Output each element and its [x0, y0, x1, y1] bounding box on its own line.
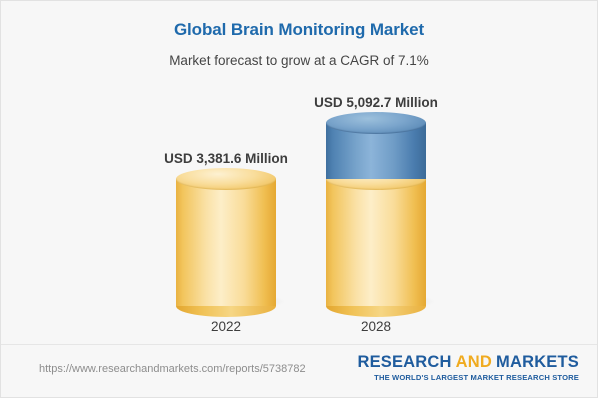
bar-2028[interactable]	[326, 123, 426, 306]
footer: https://www.researchandmarkets.com/repor…	[1, 344, 597, 397]
logo-word-markets: MARKETS	[496, 353, 579, 371]
cylinder-top-ellipse	[326, 112, 426, 134]
bar-2022-base-segment	[176, 179, 276, 306]
chart-subtitle: Market forecast to grow at a CAGR of 7.1…	[1, 53, 597, 68]
cylinder-body	[176, 179, 276, 306]
category-label-2022: 2022	[176, 319, 276, 334]
value-label-2022: USD 3,381.6 Million	[136, 151, 316, 166]
logo-word-and: AND	[456, 353, 492, 371]
report-url-link[interactable]: https://www.researchandmarkets.com/repor…	[39, 363, 306, 375]
cylinder-top-ellipse	[176, 168, 276, 190]
logo-wordmark: RESEARCHANDMARKETS	[357, 354, 579, 371]
research-and-markets-logo[interactable]: RESEARCHANDMARKETS THE WORLD'S LARGEST M…	[357, 354, 579, 382]
category-label-2028: 2028	[326, 319, 426, 334]
chart-plot-area: USD 3,381.6 Million 2022 USD 5,092.7 Mil…	[1, 81, 597, 343]
cylinder-body	[326, 179, 426, 306]
bar-2028-growth-segment	[326, 123, 426, 179]
logo-tagline: THE WORLD'S LARGEST MARKET RESEARCH STOR…	[357, 373, 579, 382]
chart-card: Global Brain Monitoring Market Market fo…	[0, 0, 598, 398]
chart-title: Global Brain Monitoring Market	[1, 20, 597, 40]
logo-word-research: RESEARCH	[357, 353, 451, 371]
bar-2028-base-segment	[326, 179, 426, 306]
bar-2022[interactable]	[176, 179, 276, 306]
value-label-2028: USD 5,092.7 Million	[286, 95, 466, 110]
